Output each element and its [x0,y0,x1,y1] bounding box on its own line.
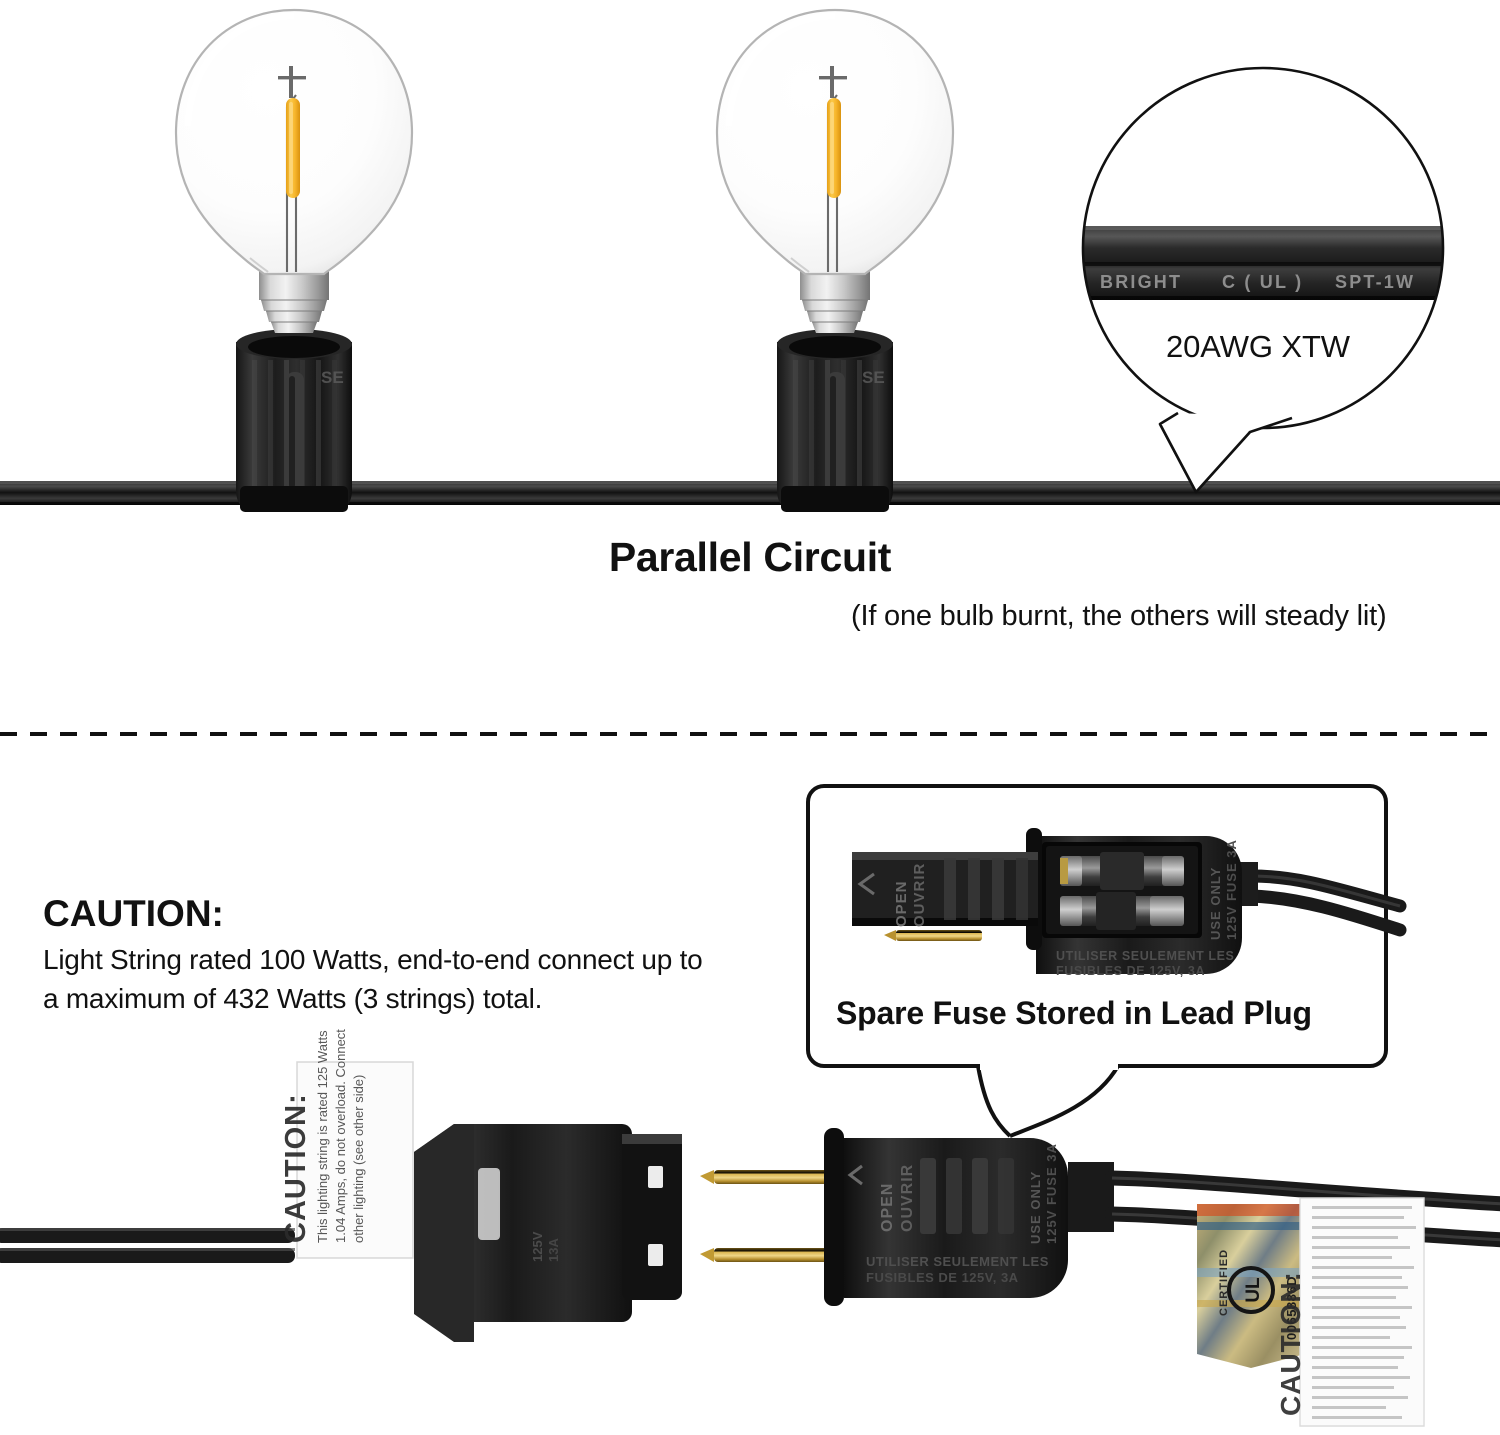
svg-text:1.04 Amps, do not overload. Co: 1.04 Amps, do not overload. Connect [333,1029,348,1243]
svg-text:This lighting string is rated: This lighting string is rated 125 Watts [315,1030,330,1243]
spec-tag-heading: CAUTION: [1275,1271,1306,1416]
hang-tag-heading: CAUTION: [280,1093,312,1243]
bulb-right-socket: SE [777,329,893,512]
svg-text:13A: 13A [546,1238,561,1262]
bulb-left-socket: SE [236,329,352,512]
cord-embossed-cul: C ( UL ) [1222,272,1303,292]
bulb-right-glass [717,10,953,274]
socket-molded-text: SE [321,368,344,387]
caution-line-2: a maximum of 432 Watts (3 strings) total… [43,983,542,1015]
caution-heading: CAUTION: [43,893,224,935]
male-plug-french-1: UTILISER SEULEMENT LES [866,1254,1049,1269]
ul-certified-text: CERTIFIED [1218,1249,1230,1316]
socket-molded-text: SE [862,368,885,387]
cord-embossed-bright: BRIGHT [1100,272,1182,292]
caution-line-1: Light String rated 100 Watts, end-to-end… [43,944,702,976]
female-connector: 125V 13A [414,1124,682,1342]
svg-text:USE ONLY: USE ONLY [1208,867,1223,940]
svg-text:OUVRIR: OUVRIR [911,863,928,927]
fuse-upper [1060,852,1184,890]
bulb-left-glass [176,10,412,274]
male-plug-french-2: FUSIBLES DE 125V, 3A [866,1270,1019,1285]
fuse-lower [1060,892,1184,930]
parallel-circuit-title: Parallel Circuit [0,534,1500,581]
spare-fuse-callout-box: OPEN OUVRIR [808,786,1400,1136]
plug-french-text-2: FUSIBLES DE 125V, 3A [1056,964,1205,978]
bulb-left: SE [176,10,412,512]
string-light-cord [0,481,1500,505]
svg-text:OPEN: OPEN [893,880,910,927]
male-lead-plug: OPEN OUVRIR USE ONLY 125V FUSE 3A UTILIS… [700,1128,1114,1306]
magnifier-awg-label: 20AWG XTW [1166,329,1350,365]
female-end-cord [0,1228,295,1263]
male-plug-prongs [700,1170,832,1262]
parallel-circuit-subtitle: (If one bulb burnt, the others will stea… [851,600,1386,633]
ul-mark-text: UL [1243,1277,1264,1303]
plug-prong [884,930,982,941]
infographic-canvas: SE [0,0,1500,1435]
svg-text:125V FUSE 3A: 125V FUSE 3A [1224,839,1239,940]
svg-text:other lighting (see other side: other lighting (see other side) [351,1075,366,1243]
bulb-right-screw-base [800,270,870,333]
svg-text:125V FUSE 3A: 125V FUSE 3A [1044,1143,1059,1244]
hang-tag-caution: CAUTION: This lighting string is rated 1… [280,1029,413,1258]
svg-text:OUVRIR: OUVRIR [899,1164,916,1232]
magnified-cord: BRIGHT C ( UL ) SPT-1W [1080,226,1450,300]
cord-magnifier-callout: BRIGHT C ( UL ) SPT-1W [1080,68,1450,492]
svg-text:125V: 125V [530,1231,545,1262]
svg-text:OPEN: OPEN [879,1183,896,1232]
svg-text:USE ONLY: USE ONLY [1028,1171,1043,1244]
bulb-right: SE [717,10,953,512]
cord-embossed-spt: SPT-1W [1335,272,1415,292]
plug-french-text-1: UTILISER SEULEMENT LES [1056,949,1235,963]
bulb-left-screw-base [259,270,329,333]
spare-fuse-callout-label: Spare Fuse Stored in Lead Plug [836,995,1312,1032]
artwork-layer: SE [0,0,1500,1435]
